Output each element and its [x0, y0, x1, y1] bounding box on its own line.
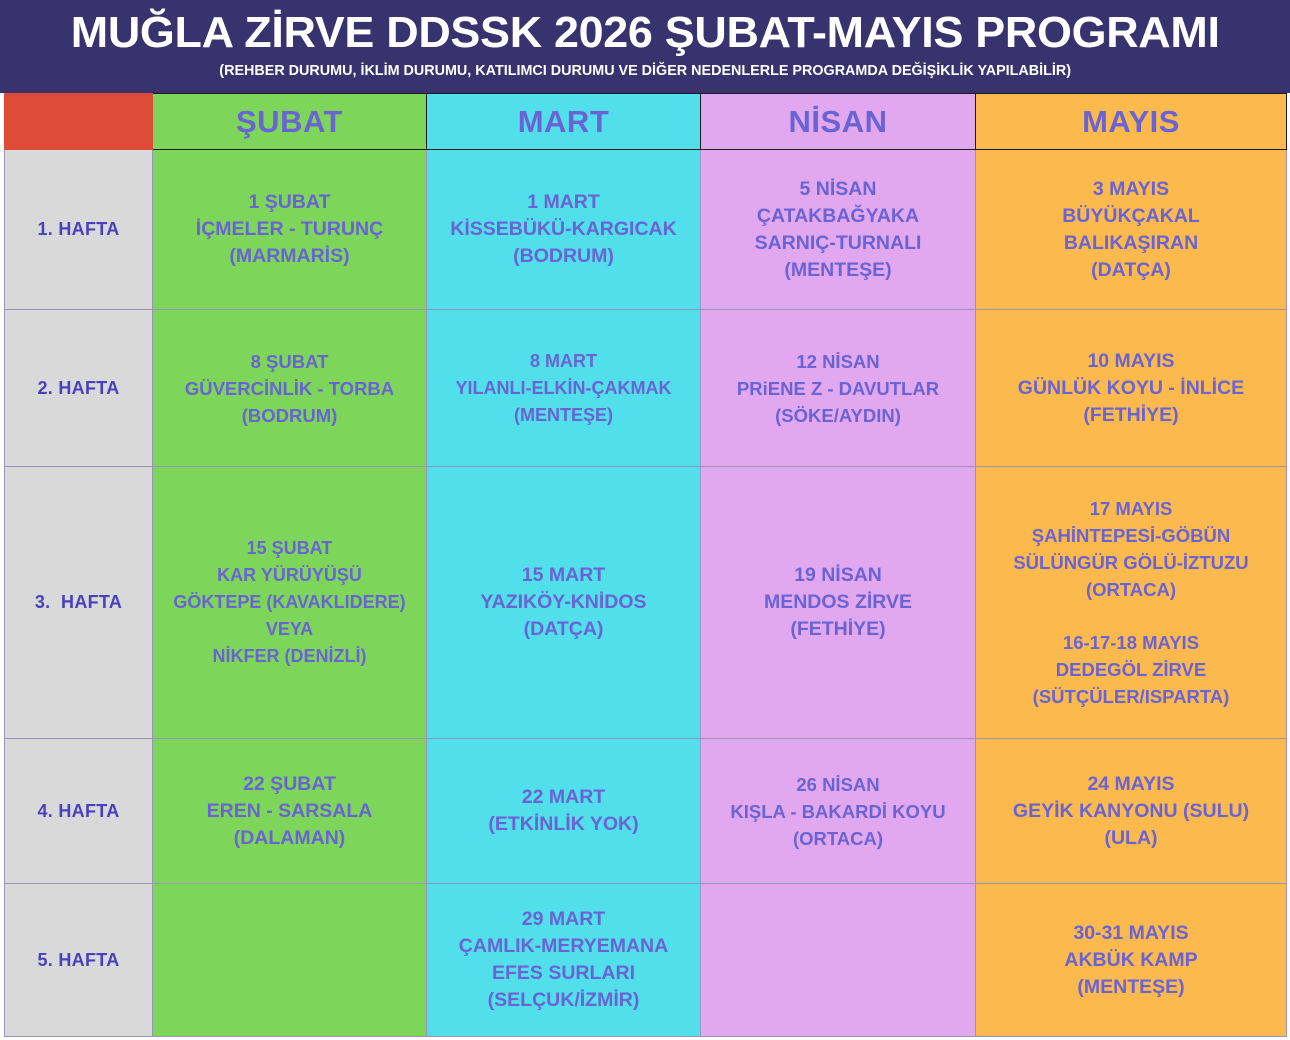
event-line: 12 NİSAN [701, 348, 975, 375]
table-row: 3. HAFTA 15 ŞUBATKAR YÜRÜYÜŞÜGÖKTEPE (KA… [5, 467, 1287, 739]
event-line: 16-17-18 MAYIS [976, 629, 1286, 656]
event-line: 30-31 MAYIS [976, 920, 1286, 947]
event-line: İÇMELER - TURUNÇ [153, 216, 426, 243]
event-cell-subat[interactable] [153, 884, 427, 1037]
event-cell-nisan[interactable]: 26 NİSANKIŞLA - BAKARDİ KOYU(ORTACA) [701, 739, 976, 884]
event-cell-mayis[interactable]: 10 MAYISGÜNLÜK KOYU - İNLİCE(FETHİYE) [976, 310, 1287, 467]
week-label: 5. HAFTA [5, 884, 153, 1037]
event-line: YILANLI-ELKİN-ÇAKMAK [427, 375, 700, 402]
event-line: PRiENE Z - DAVUTLAR [701, 375, 975, 402]
event-line: (DALAMAN) [153, 825, 426, 852]
program-poster: MUĞLA ZİRVE DDSSK 2026 ŞUBAT-MAYIS PROGR… [0, 0, 1290, 1040]
event-cell-nisan[interactable]: 19 NİSANMENDOS ZİRVE(FETHİYE) [701, 467, 976, 739]
event-line: (MARMARİS) [153, 243, 426, 270]
event-line: DEDEGÖL ZİRVE [976, 656, 1286, 683]
week-label: 1. HAFTA [5, 150, 153, 310]
event-line: 8 MART [427, 348, 700, 375]
event-line: (DATÇA) [976, 257, 1286, 284]
event-cell-nisan[interactable]: 12 NİSANPRiENE Z - DAVUTLAR(SÖKE/AYDIN) [701, 310, 976, 467]
event-line: VEYA [153, 616, 426, 643]
table-row: 1. HAFTA 1 ŞUBATİÇMELER - TURUNÇ(MARMARİ… [5, 150, 1287, 310]
event-line: KIŞLA - BAKARDİ KOYU [701, 798, 975, 825]
column-header-subat: ŞUBAT [153, 94, 427, 150]
event-line: BALIKAŞIRAN [976, 230, 1286, 257]
event-cell-mart[interactable]: 1 MARTKİSSEBÜKÜ-KARGICAK(BODRUM) [427, 150, 701, 310]
event-cell-subat[interactable]: 8 ŞUBATGÜVERCİNLİK - TORBA(BODRUM) [153, 310, 427, 467]
table-header-row: ŞUBAT MART NİSAN MAYIS [5, 94, 1287, 150]
event-cell-mart[interactable]: 8 MARTYILANLI-ELKİN-ÇAKMAK(MENTEŞE) [427, 310, 701, 467]
event-line: (SELÇUK/İZMİR) [427, 987, 700, 1014]
event-line: 19 NİSAN [701, 562, 975, 589]
event-line: YAZIKÖY-KNİDOS [427, 589, 700, 616]
event-line: (BODRUM) [153, 402, 426, 429]
event-cell-subat[interactable]: 22 ŞUBATEREN - SARSALA(DALAMAN) [153, 739, 427, 884]
week-label: 2. HAFTA [5, 310, 153, 467]
event-line: 24 MAYIS [976, 771, 1286, 798]
header-banner: MUĞLA ZİRVE DDSSK 2026 ŞUBAT-MAYIS PROGR… [0, 0, 1290, 93]
event-line: (MENTEŞE) [701, 257, 975, 284]
event-line: MENDOS ZİRVE [701, 589, 975, 616]
event-line [976, 603, 1286, 629]
week-label: 4. HAFTA [5, 739, 153, 884]
event-cell-nisan[interactable]: 5 NİSANÇATAKBAĞYAKASARNIÇ-TURNALI(MENTEŞ… [701, 150, 976, 310]
table-row: 4. HAFTA 22 ŞUBATEREN - SARSALA(DALAMAN)… [5, 739, 1287, 884]
event-line: (ULA) [976, 825, 1286, 852]
event-line: (FETHİYE) [976, 402, 1286, 429]
event-line: (ETKİNLİK YOK) [427, 811, 700, 838]
event-line: 3 MAYIS [976, 176, 1286, 203]
table-body: 1. HAFTA 1 ŞUBATİÇMELER - TURUNÇ(MARMARİ… [5, 150, 1287, 1037]
event-line: GÖKTEPE (KAVAKLIDERE) [153, 589, 426, 616]
event-cell-mart[interactable]: 15 MARTYAZIKÖY-KNİDOS(DATÇA) [427, 467, 701, 739]
event-line: 22 MART [427, 784, 700, 811]
event-line: 1 ŞUBAT [153, 189, 426, 216]
event-line: (DATÇA) [427, 616, 700, 643]
event-line: 10 MAYIS [976, 348, 1286, 375]
event-line: SÜLÜNGÜR GÖLÜ-İZTUZU [976, 549, 1286, 576]
event-line: 8 ŞUBAT [153, 348, 426, 375]
event-cell-mayis[interactable]: 24 MAYISGEYİK KANYONU (SULU)(ULA) [976, 739, 1287, 884]
event-cell-mart[interactable]: 22 MART(ETKİNLİK YOK) [427, 739, 701, 884]
event-line: 26 NİSAN [701, 771, 975, 798]
event-cell-mart[interactable]: 29 MARTÇAMLIK-MERYEMANAEFES SURLARI(SELÇ… [427, 884, 701, 1037]
event-cell-nisan[interactable] [701, 884, 976, 1037]
event-line: KAR YÜRÜYÜŞÜ [153, 562, 426, 589]
event-line: GÜNLÜK KOYU - İNLİCE [976, 375, 1286, 402]
event-cell-subat[interactable]: 1 ŞUBATİÇMELER - TURUNÇ(MARMARİS) [153, 150, 427, 310]
event-line: EREN - SARSALA [153, 798, 426, 825]
event-line: 22 ŞUBAT [153, 771, 426, 798]
event-line: 15 MART [427, 562, 700, 589]
event-line: (SÜTÇÜLER/ISPARTA) [976, 683, 1286, 710]
event-line: 29 MART [427, 906, 700, 933]
event-line: ÇATAKBAĞYAKA [701, 203, 975, 230]
event-line: 1 MART [427, 189, 700, 216]
event-line: (ORTACA) [976, 576, 1286, 603]
event-line: (MENTEŞE) [427, 402, 700, 429]
event-line: SARNIÇ-TURNALI [701, 230, 975, 257]
event-line: ŞAHİNTEPESİ-GÖBÜN [976, 522, 1286, 549]
header-corner-cell [5, 94, 153, 150]
event-line: BÜYÜKÇAKAL [976, 203, 1286, 230]
event-line: (BODRUM) [427, 243, 700, 270]
table-row: 2. HAFTA 8 ŞUBATGÜVERCİNLİK - TORBA(BODR… [5, 310, 1287, 467]
event-line: AKBÜK KAMP [976, 947, 1286, 974]
schedule-table: ŞUBAT MART NİSAN MAYIS 1. HAFTA 1 ŞUBATİ… [4, 93, 1287, 1037]
column-header-mart: MART [427, 94, 701, 150]
event-line: GEYİK KANYONU (SULU) [976, 798, 1286, 825]
event-line: (MENTEŞE) [976, 974, 1286, 1001]
event-line: (ORTACA) [701, 825, 975, 852]
event-line: KİSSEBÜKÜ-KARGICAK [427, 216, 700, 243]
event-line: NİKFER (DENİZLİ) [153, 643, 426, 670]
table-row: 5. HAFTA 29 MARTÇAMLIK-MERYEMANAEFES SUR… [5, 884, 1287, 1037]
event-line: (FETHİYE) [701, 616, 975, 643]
event-cell-subat[interactable]: 15 ŞUBATKAR YÜRÜYÜŞÜGÖKTEPE (KAVAKLIDERE… [153, 467, 427, 739]
event-line: 17 MAYIS [976, 495, 1286, 522]
event-cell-mayis[interactable]: 17 MAYISŞAHİNTEPESİ-GÖBÜNSÜLÜNGÜR GÖLÜ-İ… [976, 467, 1287, 739]
event-line: 5 NİSAN [701, 176, 975, 203]
page-title: MUĞLA ZİRVE DDSSK 2026 ŞUBAT-MAYIS PROGR… [71, 7, 1220, 59]
event-line: (SÖKE/AYDIN) [701, 402, 975, 429]
event-cell-mayis[interactable]: 30-31 MAYISAKBÜK KAMP(MENTEŞE) [976, 884, 1287, 1037]
week-label: 3. HAFTA [5, 467, 153, 739]
event-line: EFES SURLARI [427, 960, 700, 987]
event-cell-mayis[interactable]: 3 MAYISBÜYÜKÇAKALBALIKAŞIRAN(DATÇA) [976, 150, 1287, 310]
page-subtitle: (REHBER DURUMU, İKLİM DURUMU, KATILIMCI … [219, 62, 1071, 80]
column-header-mayis: MAYIS [976, 94, 1287, 150]
event-line: 15 ŞUBAT [153, 535, 426, 562]
column-header-nisan: NİSAN [701, 94, 976, 150]
event-line: GÜVERCİNLİK - TORBA [153, 375, 426, 402]
event-line: ÇAMLIK-MERYEMANA [427, 933, 700, 960]
